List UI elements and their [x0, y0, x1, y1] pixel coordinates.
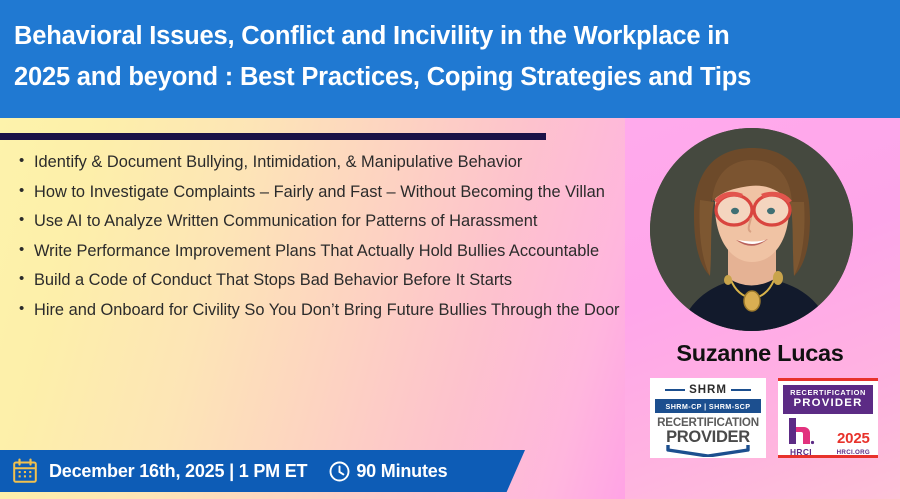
shrm-org-label: SHRM [689, 384, 727, 396]
hrci-year-label: 2025 [837, 431, 870, 447]
shrm-rule-right [731, 389, 751, 391]
event-date-label: December 16th, 2025 | 1 PM ET [49, 461, 307, 482]
speaker-name: Suzanne Lucas [620, 340, 900, 367]
speaker-portrait-image [650, 128, 853, 331]
hrci-lower-row: HRCI 2025 HRCI.ORG [783, 416, 873, 457]
shrm-recertification-provider-badge: SHRM SHRM-CP | SHRM-SCP RECERTIFICATION … [650, 378, 766, 458]
list-item: Use AI to Analyze Written Communication … [34, 208, 652, 235]
calendar-icon [12, 458, 38, 484]
agenda-bullet-list: Identify & Document Bullying, Intimidati… [14, 149, 652, 326]
header-banner: Behavioral Issues, Conflict and Incivili… [0, 0, 900, 118]
shrm-chevron-icon [666, 445, 750, 457]
list-item: Write Performance Improvement Plans That… [34, 238, 652, 265]
hrci-provider-label: PROVIDER [783, 397, 873, 410]
webinar-poster: Behavioral Issues, Conflict and Incivili… [0, 0, 900, 499]
hrci-h-logo-icon [786, 416, 816, 446]
certification-badges: SHRM SHRM-CP | SHRM-SCP RECERTIFICATION … [650, 378, 900, 468]
list-item: Hire and Onboard for Civility So You Don… [34, 297, 652, 324]
shrm-provider-label: PROVIDER [666, 429, 750, 446]
clock-icon [329, 461, 350, 482]
hrci-recertification-provider-badge: RECERTIFICATION PROVIDER HRCI 2025 HRCI.… [778, 378, 878, 458]
list-item: Identify & Document Bullying, Intimidati… [34, 149, 652, 176]
navy-divider-rule [0, 133, 546, 140]
list-item: Build a Code of Conduct That Stops Bad B… [34, 267, 652, 294]
event-details-banner: December 16th, 2025 | 1 PM ET 90 Minutes [0, 450, 525, 492]
hrci-org-label: HRCI [790, 447, 812, 457]
hrci-website-label: HRCI.ORG [837, 449, 870, 456]
shrm-rule-left [665, 389, 685, 391]
hrci-logo-group: HRCI [786, 416, 816, 457]
page-title: Behavioral Issues, Conflict and Incivili… [14, 16, 886, 98]
hrci-banner: RECERTIFICATION PROVIDER [783, 385, 873, 414]
hrci-recertification-label: RECERTIFICATION [783, 388, 873, 397]
shrm-certifications-label: SHRM-CP | SHRM-SCP [655, 399, 761, 413]
speaker-photo [650, 128, 853, 331]
list-item: How to Investigate Complaints – Fairly a… [34, 179, 652, 206]
hrci-year-group: 2025 HRCI.ORG [837, 431, 870, 457]
shrm-header-row: SHRM [655, 384, 761, 396]
event-duration-label: 90 Minutes [356, 461, 447, 482]
